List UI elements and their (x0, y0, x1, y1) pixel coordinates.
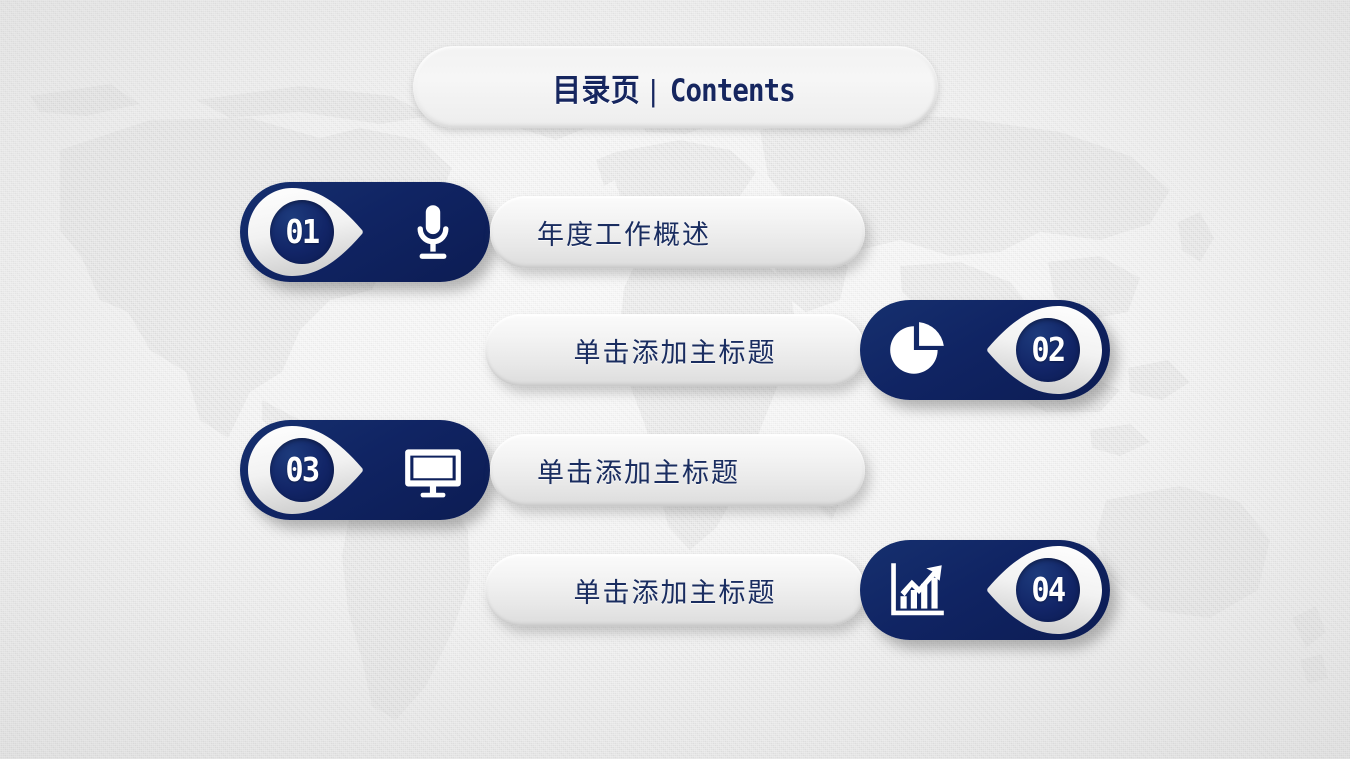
item-03-label: 单击添加主标题 (537, 451, 740, 490)
content-item-03[interactable]: 03 单击添加主标题 (240, 420, 865, 520)
item-02-label-bar[interactable]: 单击添加主标题 (485, 314, 865, 386)
item-04-capsule[interactable]: 04 (860, 540, 1110, 640)
item-04-number-circle: 04 (1016, 558, 1080, 622)
page-title: 目录页|Contents (553, 65, 799, 110)
item-03-capsule[interactable]: 03 (240, 420, 490, 520)
page-title-cjk: 目录页 (553, 73, 641, 109)
monitor-icon (400, 437, 466, 503)
pie-chart-icon (884, 317, 950, 383)
content-item-02[interactable]: 单击添加主标题 02 (485, 300, 1110, 400)
item-04-label: 单击添加主标题 (574, 571, 777, 610)
page-title-english: Contents (670, 73, 795, 109)
item-04-number: 04 (1032, 570, 1065, 609)
microphone-icon (400, 199, 466, 265)
item-02-number-circle: 02 (1016, 318, 1080, 382)
growth-chart-icon (884, 557, 950, 623)
item-03-number-circle: 03 (270, 438, 334, 502)
item-01-label-bar[interactable]: 年度工作概述 (490, 196, 865, 268)
item-01-number-circle: 01 (270, 200, 334, 264)
contents-slide: 目录页|Contents 01 (0, 0, 1350, 759)
item-03-number: 03 (286, 450, 319, 489)
item-01-capsule[interactable]: 01 (240, 182, 490, 282)
item-03-label-bar[interactable]: 单击添加主标题 (490, 434, 865, 506)
item-02-number: 02 (1032, 330, 1065, 369)
item-01-number: 01 (286, 212, 319, 251)
item-04-label-bar[interactable]: 单击添加主标题 (485, 554, 865, 626)
content-item-01[interactable]: 01 年度工作概述 (240, 182, 865, 282)
page-title-pill: 目录页|Contents (413, 46, 938, 128)
page-title-separator: | (640, 73, 667, 108)
content-item-04[interactable]: 单击添加主标题 04 (485, 540, 1110, 640)
item-02-label: 单击添加主标题 (574, 331, 777, 370)
item-02-capsule[interactable]: 02 (860, 300, 1110, 400)
item-01-label: 年度工作概述 (537, 213, 711, 252)
